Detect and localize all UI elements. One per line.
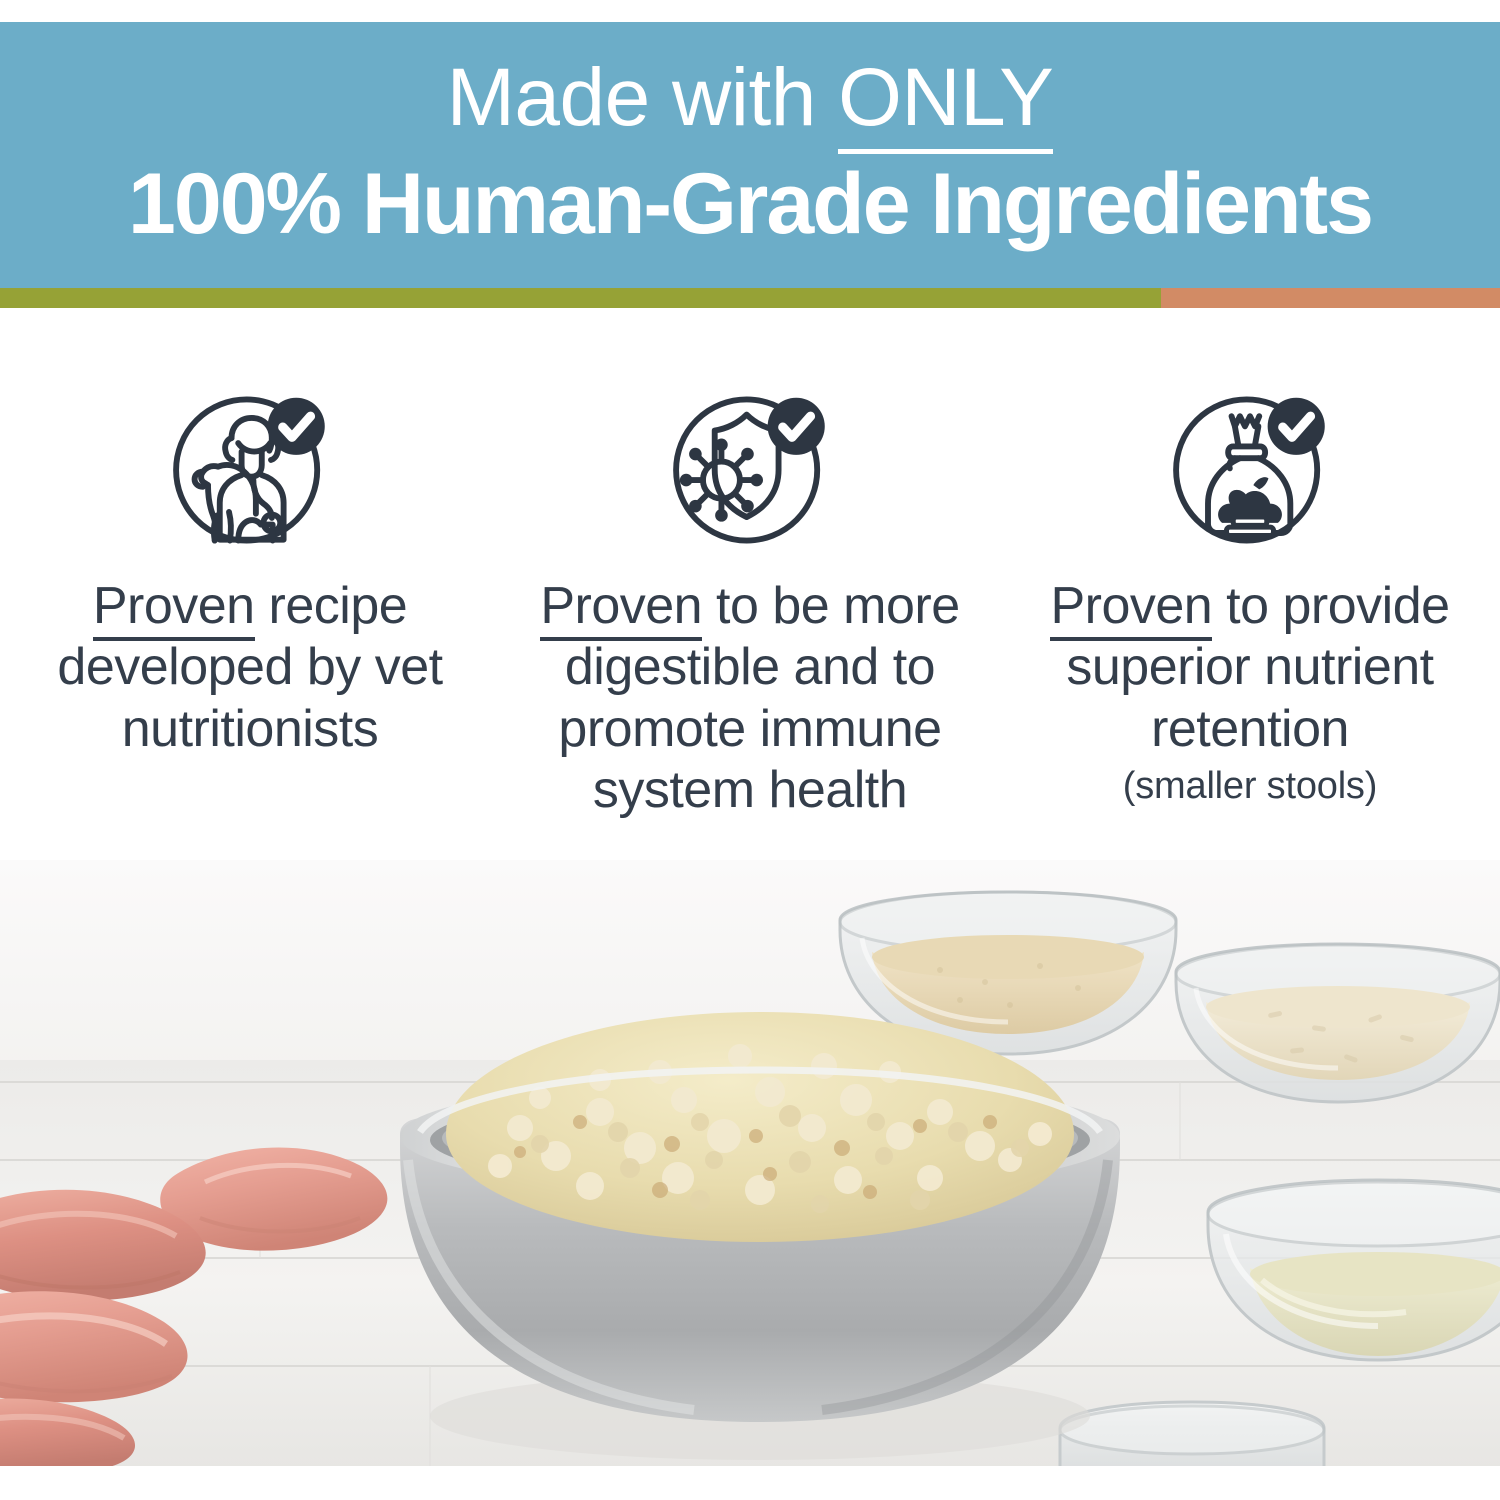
vet-with-dog-icon [166, 386, 334, 554]
feature-caption-emphasis: Proven [93, 577, 255, 641]
feature-caption-digestible: Proven to be more digestible and to prom… [535, 576, 965, 821]
feature-caption-emphasis: Proven [1050, 577, 1212, 641]
header-banner: Made with ONLY 100% Human-Grade Ingredie… [0, 22, 1500, 288]
stainless-steel-bowl-with-kibble [400, 1012, 1120, 1460]
waste-bag-icon [1166, 386, 1334, 554]
feature-caption-subnote: (smaller stools) [1035, 764, 1465, 810]
feature-caption-emphasis: Proven [540, 577, 702, 641]
feature-row: Proven recipe developed by vet nutrition… [0, 308, 1500, 908]
feature-column-digestible: Proven to be more digestible and to prom… [500, 308, 1000, 908]
accent-stripe-salmon-segment [1161, 288, 1500, 308]
check-badge-icon [1268, 398, 1325, 455]
banner-headline-line2: 100% Human-Grade Ingredients [128, 159, 1372, 249]
top-white-margin [0, 0, 1500, 22]
feature-caption-vet-recipe: Proven recipe developed by vet nutrition… [35, 576, 465, 760]
ingredients-photo [0, 860, 1500, 1468]
banner-headline-prefix: Made with [447, 52, 839, 143]
feature-column-vet-recipe: Proven recipe developed by vet nutrition… [0, 308, 500, 908]
banner-headline-line1: Made with ONLY [447, 55, 1054, 141]
bottom-white-margin [0, 1466, 1500, 1500]
accent-stripe-olive-segment [0, 288, 1161, 308]
glass-bowl-partial-bottom [1060, 1402, 1324, 1468]
feature-column-nutrient-retention: Proven to provide superior nutrient rete… [1000, 308, 1500, 908]
check-badge-icon [268, 398, 325, 455]
infographic-page: Made with ONLY 100% Human-Grade Ingredie… [0, 0, 1500, 1500]
accent-stripe [0, 288, 1500, 308]
feature-caption-nutrient-retention: Proven to provide superior nutrient rete… [1035, 576, 1465, 810]
ingredients-photo-illustration [0, 860, 1500, 1468]
check-badge-icon [768, 398, 825, 455]
banner-headline-emphasis: ONLY [838, 52, 1053, 154]
shield-virus-icon [666, 386, 834, 554]
